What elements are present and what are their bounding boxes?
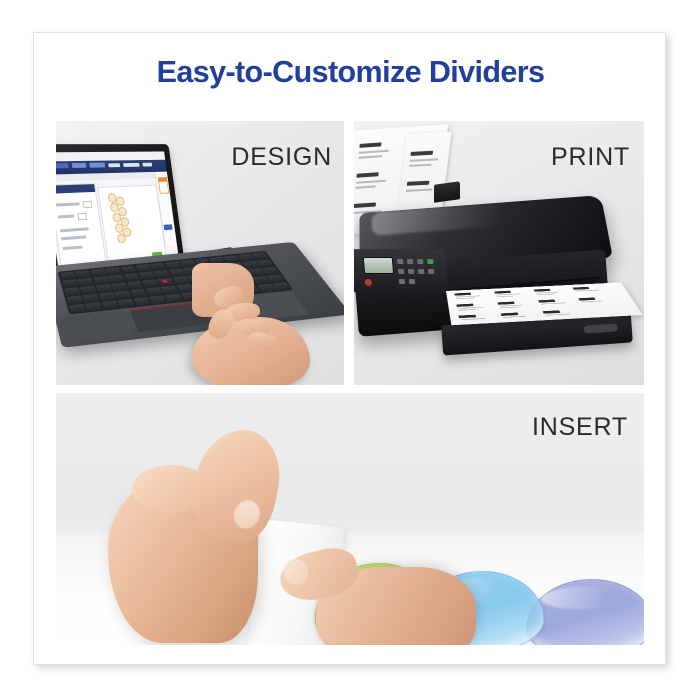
key[interactable]	[108, 274, 124, 282]
paper-bar	[410, 151, 433, 156]
printed-label-cell	[458, 314, 492, 324]
printed-label-cell	[534, 288, 567, 297]
key[interactable]	[139, 271, 156, 279]
key[interactable]	[146, 287, 163, 296]
paper-line	[409, 164, 431, 167]
label-line	[458, 309, 476, 311]
key[interactable]	[80, 285, 96, 293]
printer-control-panel[interactable]	[354, 249, 448, 293]
menu-button[interactable]	[409, 279, 415, 284]
ribbon-chip	[123, 163, 140, 167]
label-bar	[501, 313, 519, 316]
sheet-thumbnail[interactable]	[158, 177, 169, 194]
menu-button[interactable]	[397, 259, 403, 264]
key[interactable]	[165, 293, 183, 302]
power-button[interactable]	[365, 279, 373, 286]
key[interactable]	[111, 282, 128, 290]
paper-guide[interactable]	[434, 181, 460, 203]
printed-label-cell	[501, 312, 536, 322]
hand-on-keyboard	[192, 263, 342, 373]
menu-button[interactable]	[398, 269, 404, 274]
key[interactable]	[223, 255, 240, 263]
key[interactable]	[133, 297, 150, 306]
menu-button[interactable]	[399, 279, 405, 284]
key[interactable]	[90, 268, 106, 276]
printed-label-cell	[456, 303, 489, 313]
key[interactable]	[150, 262, 166, 270]
paper-line	[359, 150, 389, 154]
paper-line	[406, 188, 432, 191]
paper-line	[355, 185, 375, 188]
ribbon-chip	[108, 163, 120, 167]
key[interactable]	[60, 272, 76, 280]
form-field-label	[58, 215, 75, 219]
label-line	[581, 301, 602, 303]
key[interactable]	[114, 290, 131, 299]
form-panel-header	[56, 184, 95, 194]
label-line	[456, 298, 474, 300]
printed-label-cell	[494, 290, 526, 299]
label-bar	[543, 310, 561, 313]
menu-button[interactable]	[428, 269, 434, 274]
key[interactable]	[69, 304, 86, 313]
printed-label-cell	[543, 310, 578, 320]
key[interactable]	[99, 292, 116, 301]
key[interactable]	[78, 278, 94, 286]
tab-preview-dot	[117, 233, 127, 243]
label-line	[503, 316, 526, 318]
key[interactable]	[135, 264, 151, 272]
key[interactable]	[252, 252, 269, 259]
paper-line	[410, 158, 438, 161]
label-line	[545, 314, 571, 316]
printed-label-cell	[578, 297, 612, 306]
printed-label-cell	[538, 299, 572, 308]
label-line	[575, 290, 599, 292]
key[interactable]	[64, 287, 80, 296]
form-field-label	[56, 202, 80, 206]
key[interactable]	[75, 270, 91, 278]
panel-design[interactable]: DESIGN	[56, 121, 344, 385]
form-field-input[interactable]	[83, 201, 93, 208]
panel-print[interactable]: PRINT	[354, 121, 644, 385]
panel-label-insert: INSERT	[532, 413, 628, 442]
key[interactable]	[149, 295, 166, 304]
printed-label-cell	[454, 292, 486, 301]
key[interactable]	[120, 265, 136, 273]
rail-action-button[interactable]	[164, 224, 173, 230]
printed-label-cell	[498, 301, 531, 310]
right-hand	[246, 543, 476, 645]
key[interactable]	[96, 284, 113, 292]
tab-highlight	[541, 585, 630, 611]
paper-bar	[356, 172, 378, 178]
page-title: Easy-to-Customize Dividers	[34, 55, 667, 90]
label-line	[460, 318, 485, 320]
key[interactable]	[169, 268, 186, 276]
key[interactable]	[117, 298, 134, 307]
paper-bar	[359, 142, 381, 147]
key[interactable]	[105, 267, 121, 275]
start-button[interactable]	[427, 259, 433, 264]
printed-label-cell	[573, 286, 606, 295]
key[interactable]	[67, 295, 84, 304]
key[interactable]	[172, 276, 189, 284]
form-field-label	[61, 235, 86, 240]
key[interactable]	[130, 289, 147, 298]
label-line	[541, 303, 567, 305]
menu-button[interactable]	[418, 269, 424, 274]
ribbon-chip	[142, 163, 152, 167]
paper-bar	[354, 202, 376, 208]
key[interactable]	[83, 294, 100, 303]
label-bar	[458, 315, 476, 318]
key[interactable]	[124, 273, 140, 281]
menu-button[interactable]	[407, 259, 413, 264]
key[interactable]	[85, 302, 102, 311]
form-field-label	[60, 227, 89, 232]
tray-handle[interactable]	[584, 323, 618, 333]
label-line	[500, 307, 519, 309]
key[interactable]	[165, 261, 182, 269]
product-card: Easy-to-Customize Dividers	[33, 32, 666, 665]
ribbon-chip	[56, 163, 69, 168]
panel-insert[interactable]: FINANCE INSERT	[56, 393, 644, 645]
menu-button[interactable]	[408, 269, 414, 274]
key[interactable]	[154, 270, 171, 278]
key[interactable]	[127, 281, 144, 289]
paper-bar	[407, 181, 430, 186]
label-line	[537, 294, 555, 296]
palm-rest-left	[57, 310, 133, 342]
key[interactable]	[62, 279, 78, 287]
label-line	[497, 296, 513, 298]
key[interactable]	[142, 279, 159, 287]
panel-label-print: PRINT	[551, 143, 630, 172]
form-field-label	[63, 246, 83, 251]
laptop-illustration	[56, 145, 342, 385]
menu-button[interactable]	[417, 259, 423, 264]
paper-line	[358, 155, 382, 158]
printer-lcd-display	[363, 257, 395, 274]
key[interactable]	[161, 285, 178, 293]
panel-label-design: DESIGN	[231, 143, 332, 172]
sheet-thumbnail-header	[159, 178, 167, 182]
paper-line	[356, 180, 386, 184]
app-subribbon	[56, 172, 168, 182]
ribbon-chip	[72, 163, 87, 168]
ribbon-chip	[89, 163, 105, 168]
form-field-input[interactable]	[77, 213, 87, 220]
key[interactable]	[93, 276, 109, 284]
key[interactable]	[101, 300, 118, 309]
